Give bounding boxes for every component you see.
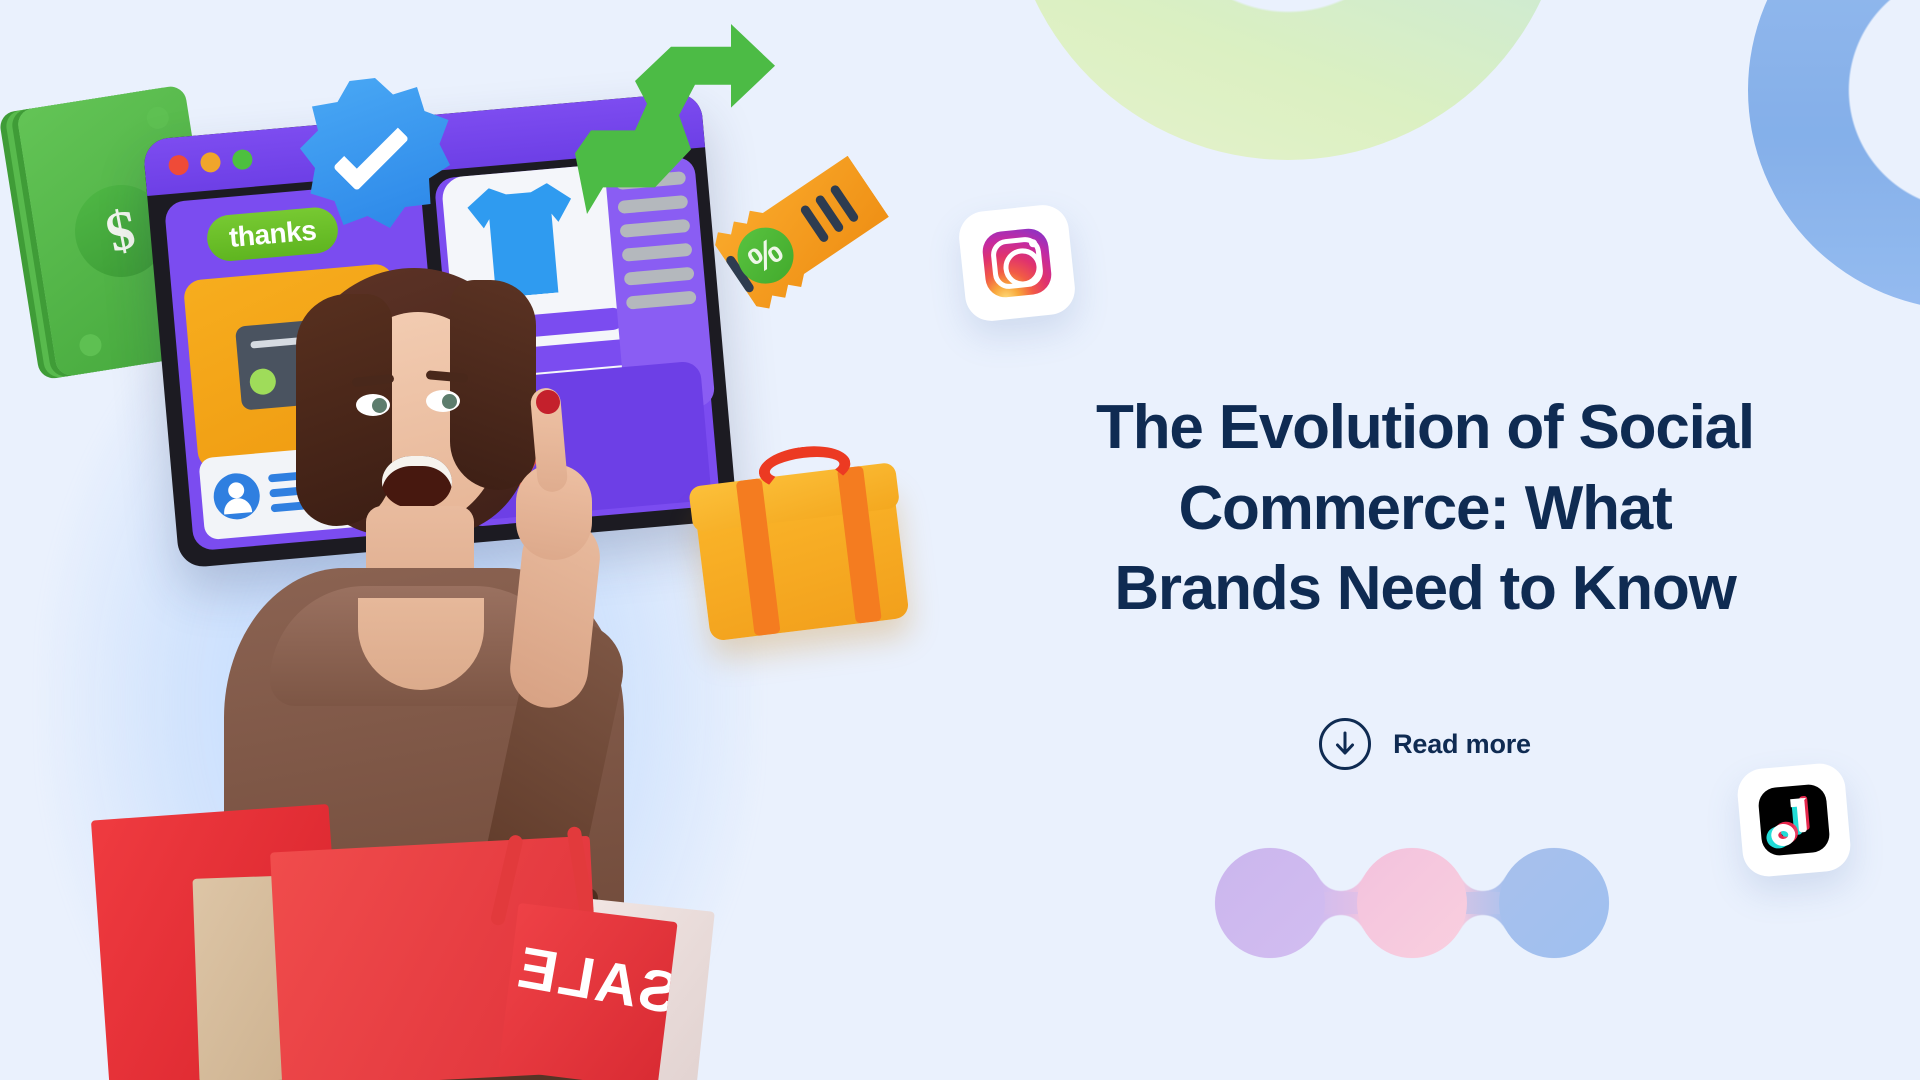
window-maximize-dot	[232, 149, 254, 171]
arrow-down-circle-icon[interactable]	[1319, 718, 1371, 770]
gift-box-icon	[690, 448, 909, 641]
hero-content: The Evolution of Social Commerce: What B…	[1010, 0, 1840, 1080]
headline-line-1: The Evolution of Social	[1096, 393, 1754, 462]
sale-label: SALE	[511, 933, 677, 1027]
page-title: The Evolution of Social Commerce: What B…	[1010, 388, 1840, 630]
shopping-bags: SALE	[96, 792, 736, 1080]
read-more-label: Read more	[1393, 729, 1531, 760]
window-close-dot	[168, 154, 190, 176]
tiktok-icon[interactable]	[1735, 761, 1852, 878]
instagram-icon[interactable]	[957, 203, 1078, 324]
bag-handle	[566, 826, 594, 919]
headline-line-3: Brands Need to Know	[1114, 554, 1735, 623]
growth-arrow-icon	[575, 24, 775, 214]
read-more-button[interactable]: Read more	[1010, 718, 1840, 770]
tiktok-glyph	[1757, 783, 1831, 857]
hero-illustration: $ thanks	[0, 0, 960, 1080]
hero-banner: $ thanks	[0, 0, 1920, 1080]
instagram-glyph	[981, 227, 1054, 300]
shopping-bag-sale: SALE	[498, 903, 677, 1080]
verified-badge-icon	[300, 78, 450, 228]
window-minimize-dot	[200, 152, 222, 174]
headline-line-2: Commerce: What	[1178, 474, 1671, 543]
